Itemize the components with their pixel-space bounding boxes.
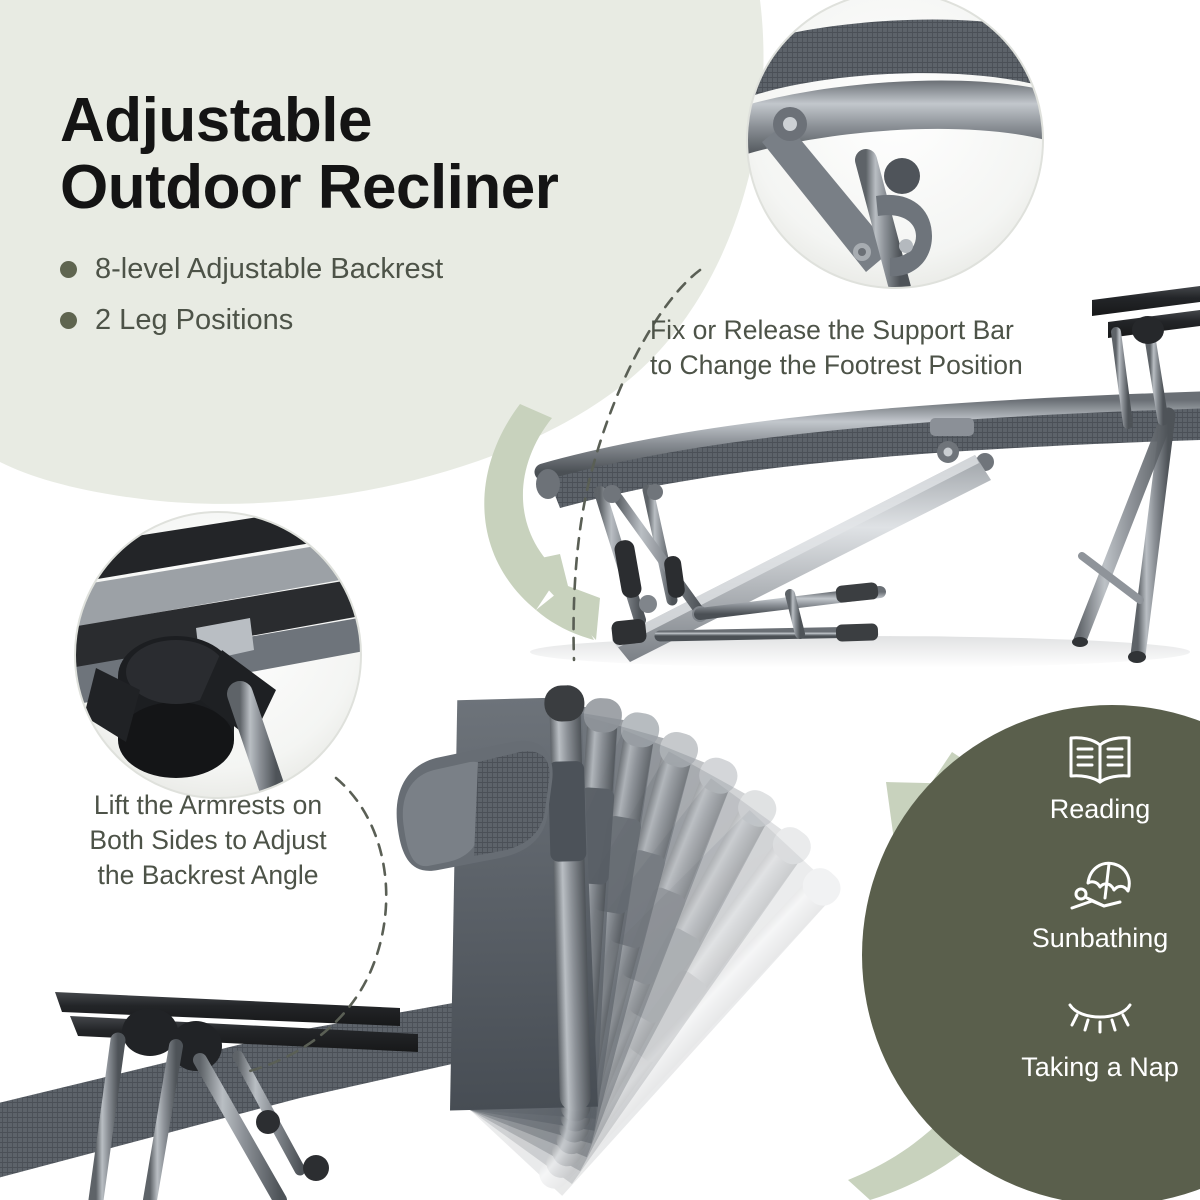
closed-eye-icon: [1000, 988, 1200, 1046]
activity-label: Reading: [1000, 794, 1200, 825]
callout-armrest: Lift the Armrests on Both Sides to Adjus…: [58, 788, 358, 893]
activity-label: Taking a Nap: [1000, 1052, 1200, 1083]
inset-support-bar: [730, 0, 1065, 288]
feature-item: 2 Leg Positions: [60, 303, 720, 338]
activities-list: Reading Sunbathing: [1000, 730, 1200, 1117]
page-title-line-1: Adjustable: [60, 88, 720, 155]
inset-armrest-pivot: [60, 496, 424, 800]
activity-item-nap: Taking a Nap: [1000, 988, 1200, 1083]
bullet-dot-icon: [60, 312, 77, 329]
activity-item-sunbathing: Sunbathing: [1000, 859, 1200, 954]
page-title-line-2: Outdoor Recliner: [60, 155, 720, 222]
feature-label: 2 Leg Positions: [95, 303, 293, 338]
header-block: Adjustable Outdoor Recliner 8-level Adju…: [60, 88, 720, 354]
bullet-dot-icon: [60, 261, 77, 278]
callout-footrest: Fix or Release the Support Bar to Change…: [650, 313, 1023, 383]
feature-item: 8-level Adjustable Backrest: [60, 252, 720, 287]
open-book-icon: [1000, 730, 1200, 788]
callout-footrest-line-1: Fix or Release the Support Bar: [650, 313, 1023, 348]
footrest-frame: [600, 484, 880, 646]
arrow-footrest: [484, 404, 600, 640]
activity-item-reading: Reading: [1000, 730, 1200, 825]
callout-footrest-line-2: to Change the Footrest Position: [650, 348, 1023, 383]
feature-label: 8-level Adjustable Backrest: [95, 252, 443, 287]
feature-list: 8-level Adjustable Backrest 2 Leg Positi…: [60, 252, 720, 338]
infographic-canvas: Adjustable Outdoor Recliner 8-level Adju…: [0, 0, 1200, 1200]
callout-armrest-line-1: Lift the Armrests on: [58, 788, 358, 823]
activity-label: Sunbathing: [1000, 923, 1200, 954]
callout-armrest-line-3: the Backrest Angle: [58, 858, 358, 893]
beach-umbrella-icon: [1000, 859, 1200, 917]
callout-armrest-line-2: Both Sides to Adjust: [58, 823, 358, 858]
